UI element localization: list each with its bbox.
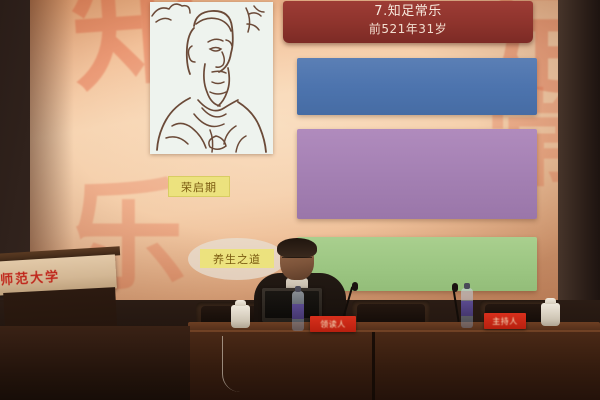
- text-box-blue: [297, 58, 537, 115]
- power-cable: [222, 336, 240, 392]
- conference-table-front: [188, 332, 600, 400]
- speaker-hair: [277, 238, 317, 258]
- tea-mug: [541, 303, 560, 326]
- bottle-label: [292, 304, 304, 319]
- nameplate-text: 主持人: [492, 316, 518, 327]
- sage-name-label: 荣启期: [168, 176, 230, 197]
- table-seam: [372, 332, 375, 400]
- text-box-purple: [297, 129, 537, 219]
- microphone-head: [352, 282, 358, 291]
- microphone-head: [452, 283, 458, 292]
- water-bottle: [292, 291, 304, 331]
- podium-banner-text: 师范大学: [0, 266, 61, 289]
- glasses-icon: [282, 257, 312, 263]
- sage-portrait-image: [150, 2, 273, 154]
- water-bottle: [461, 288, 473, 328]
- nameplate-second: 主持人: [484, 313, 526, 329]
- nameplate-text: 领读人: [320, 319, 346, 330]
- nameplate-speaker: 领读人: [310, 316, 356, 332]
- bottle-label: [461, 301, 473, 316]
- table-left-section: [0, 326, 190, 400]
- tea-mug: [231, 305, 250, 328]
- slide-title-main: 7.知足常乐: [283, 3, 533, 22]
- slide-title-banner: 7.知足常乐 前521年31岁: [283, 1, 533, 43]
- lecture-hall-scene: 知 乐 足 常 7.知足常乐 前521年31岁: [0, 0, 600, 400]
- slide-title-subtitle: 前521年31岁: [283, 22, 533, 36]
